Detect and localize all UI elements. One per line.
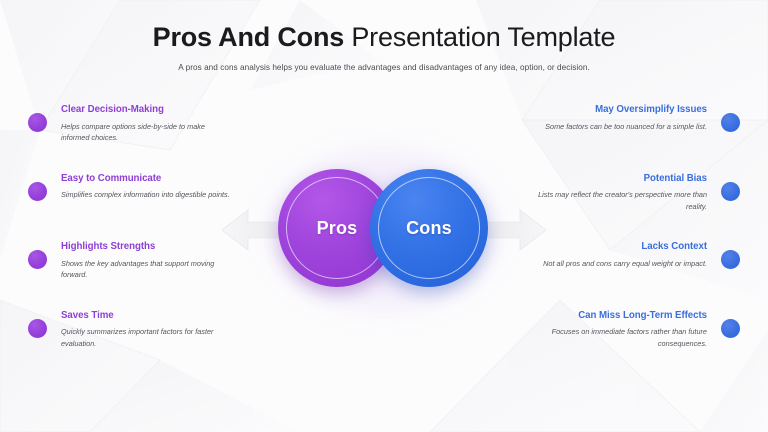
- list-item[interactable]: May Oversimplify Issues Some factors can…: [512, 104, 744, 173]
- page-title: Pros And Cons Presentation Template: [0, 22, 768, 53]
- cons-list: May Oversimplify Issues Some factors can…: [512, 104, 744, 378]
- list-item-title: Can Miss Long-Term Effects: [536, 310, 707, 322]
- list-item[interactable]: Clear Decision-Making Helps compare opti…: [24, 104, 256, 173]
- bullet-dot-icon: [28, 113, 47, 132]
- slide-header: Pros And Cons Presentation Template A pr…: [0, 22, 768, 72]
- list-item-title: Easy to Communicate: [61, 173, 232, 185]
- list-item-title: May Oversimplify Issues: [536, 104, 707, 116]
- pros-list: Clear Decision-Making Helps compare opti…: [24, 104, 256, 378]
- list-item-title: Highlights Strengths: [61, 241, 232, 253]
- slide-canvas: Pros And Cons Presentation Template A pr…: [0, 0, 768, 432]
- cons-circle-label: Cons: [370, 169, 488, 287]
- cons-circle[interactable]: Cons: [370, 169, 488, 287]
- list-item[interactable]: Highlights Strengths Shows the key advan…: [24, 241, 256, 310]
- bullet-dot-icon: [28, 319, 47, 338]
- venn-diagram: Pros Cons: [222, 155, 546, 305]
- bullet-dot-icon: [721, 250, 740, 269]
- page-title-rest: Presentation Template: [344, 22, 615, 52]
- list-item-title: Clear Decision-Making: [61, 104, 232, 116]
- list-item-desc: Focuses on immediate factors rather than…: [536, 326, 707, 350]
- bullet-dot-icon: [721, 113, 740, 132]
- list-item-desc: Some factors can be too nuanced for a si…: [536, 121, 707, 133]
- list-item-desc: Not all pros and cons carry equal weight…: [536, 258, 707, 270]
- list-item-title: Potential Bias: [536, 173, 707, 185]
- bullet-dot-icon: [28, 250, 47, 269]
- list-item-desc: Shows the key advantages that support mo…: [61, 258, 232, 282]
- list-item-desc: Helps compare options side-by-side to ma…: [61, 121, 232, 145]
- list-item[interactable]: Potential Bias Lists may reflect the cre…: [512, 173, 744, 242]
- list-item-title: Lacks Context: [536, 241, 707, 253]
- list-item[interactable]: Saves Time Quickly summarizes important …: [24, 310, 256, 379]
- list-item-desc: Lists may reflect the creator's perspect…: [536, 189, 707, 213]
- list-item-title: Saves Time: [61, 310, 232, 322]
- list-item[interactable]: Easy to Communicate Simplifies complex i…: [24, 173, 256, 242]
- bullet-dot-icon: [721, 319, 740, 338]
- list-item-desc: Quickly summarizes important factors for…: [61, 326, 232, 350]
- bullet-dot-icon: [721, 182, 740, 201]
- bullet-dot-icon: [28, 182, 47, 201]
- list-item[interactable]: Can Miss Long-Term Effects Focuses on im…: [512, 310, 744, 379]
- page-title-strong: Pros And Cons: [153, 22, 344, 52]
- list-item[interactable]: Lacks Context Not all pros and cons carr…: [512, 241, 744, 310]
- page-subtitle: A pros and cons analysis helps you evalu…: [0, 63, 768, 72]
- list-item-desc: Simplifies complex information into dige…: [61, 189, 232, 201]
